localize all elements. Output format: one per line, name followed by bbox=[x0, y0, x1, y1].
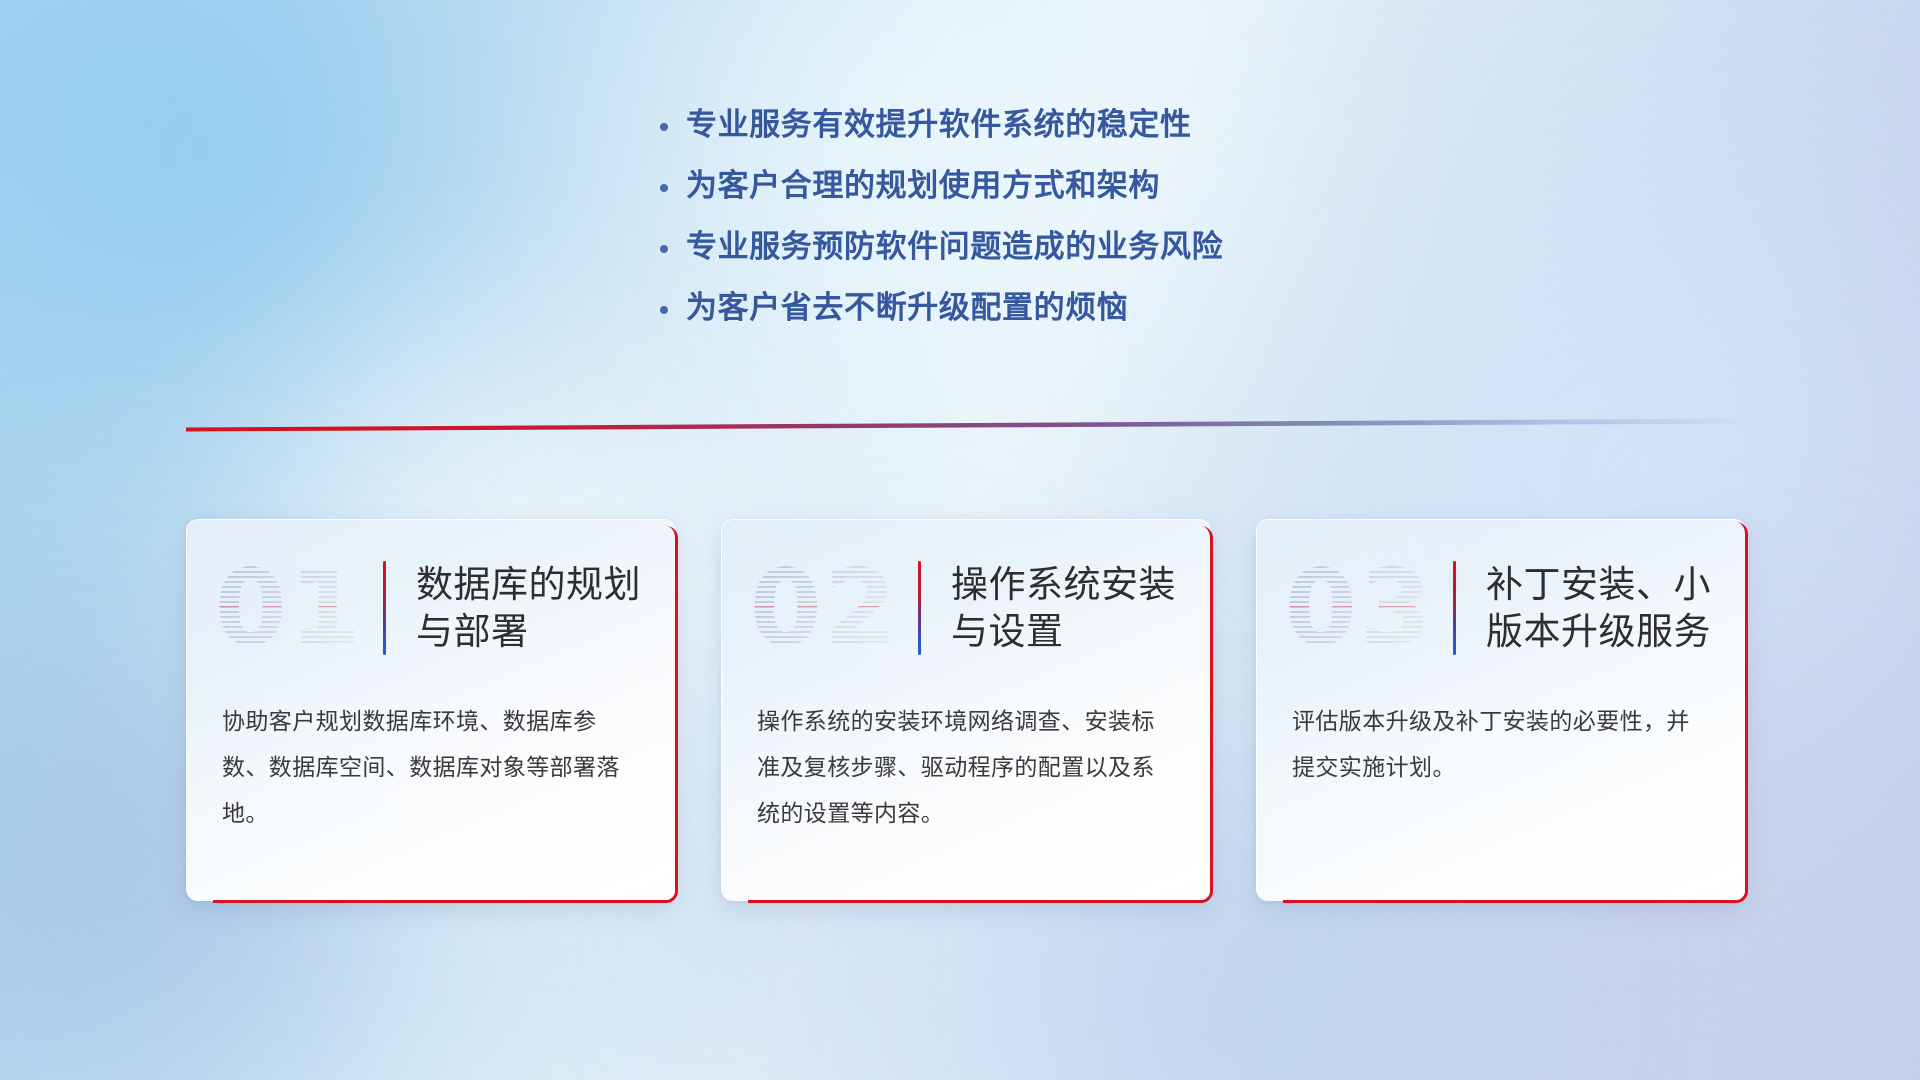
bullet-dot-icon bbox=[660, 184, 686, 192]
card-title: 补丁安装、小 版本升级服务 bbox=[1486, 561, 1711, 656]
card-description: 操作系统的安装环境网络调查、安装标准及复核步骤、驱动程序的配置以及系统的设置等内… bbox=[757, 698, 1172, 836]
card-number-badge: 02 02 bbox=[740, 548, 908, 668]
card-accent-bottom bbox=[748, 900, 1204, 903]
card-accent-rail bbox=[661, 526, 678, 903]
card-title: 操作系统安装 与设置 bbox=[951, 561, 1176, 656]
card-accent-bottom bbox=[1283, 900, 1739, 903]
card-accent-bottom bbox=[213, 900, 669, 903]
bullet-dot-icon bbox=[660, 245, 686, 253]
card-number-text: 01 bbox=[215, 556, 364, 660]
section-divider bbox=[186, 412, 1746, 438]
card-number-text: 03 bbox=[1285, 556, 1434, 660]
card-title-rule bbox=[1453, 561, 1456, 655]
card-title: 数据库的规划 与部署 bbox=[416, 561, 641, 656]
card-accent-rail bbox=[1731, 522, 1748, 903]
list-item: 专业服务预防软件问题造成的业务风险 bbox=[660, 230, 1480, 264]
bullet-text: 专业服务预防软件问题造成的业务风险 bbox=[686, 230, 1223, 264]
service-card[interactable]: 03 03 补丁安装、小 版本升级服务 评估版本升级及补丁安装的必要性，并提交实… bbox=[1256, 519, 1746, 901]
card-number-text: 02 bbox=[750, 556, 899, 660]
card-title-rule bbox=[383, 561, 386, 655]
card-title-rule bbox=[918, 561, 921, 655]
card-description: 评估版本升级及补丁安装的必要性，并提交实施计划。 bbox=[1292, 698, 1707, 790]
list-item: 专业服务有效提升软件系统的稳定性 bbox=[660, 108, 1480, 142]
list-item: 为客户省去不断升级配置的烦恼 bbox=[660, 291, 1480, 325]
card-number-badge: 01 01 bbox=[205, 548, 373, 668]
card-header: 03 03 补丁安装、小 版本升级服务 bbox=[1257, 542, 1719, 674]
card-number-badge: 03 03 bbox=[1275, 548, 1443, 668]
card-accent-rail bbox=[1196, 526, 1213, 903]
card-header: 01 01 数据库的规划 与部署 bbox=[187, 542, 649, 674]
service-card[interactable]: 01 01 数据库的规划 与部署 协助客户规划数据库环境、数据库参数、数据库空间… bbox=[186, 519, 676, 901]
list-item: 为客户合理的规划使用方式和架构 bbox=[660, 169, 1480, 203]
bullet-text: 专业服务有效提升软件系统的稳定性 bbox=[686, 108, 1192, 142]
service-card[interactable]: 02 02 操作系统安装 与设置 操作系统的安装环境网络调查、安装标准及复核步骤… bbox=[721, 519, 1211, 901]
bullet-dot-icon bbox=[660, 123, 686, 131]
bullet-text: 为客户省去不断升级配置的烦恼 bbox=[686, 291, 1128, 325]
background-glow-top-left bbox=[0, 0, 580, 460]
divider-shape bbox=[186, 412, 1746, 438]
card-description: 协助客户规划数据库环境、数据库参数、数据库空间、数据库对象等部署落地。 bbox=[222, 698, 637, 836]
card-header: 02 02 操作系统安装 与设置 bbox=[722, 542, 1184, 674]
bullet-text: 为客户合理的规划使用方式和架构 bbox=[686, 169, 1160, 203]
service-card-group: 01 01 数据库的规划 与部署 协助客户规划数据库环境、数据库参数、数据库空间… bbox=[186, 519, 1746, 909]
benefit-bullet-list: 专业服务有效提升软件系统的稳定性 为客户合理的规划使用方式和架构 专业服务预防软… bbox=[660, 108, 1480, 352]
bullet-dot-icon bbox=[660, 306, 686, 314]
